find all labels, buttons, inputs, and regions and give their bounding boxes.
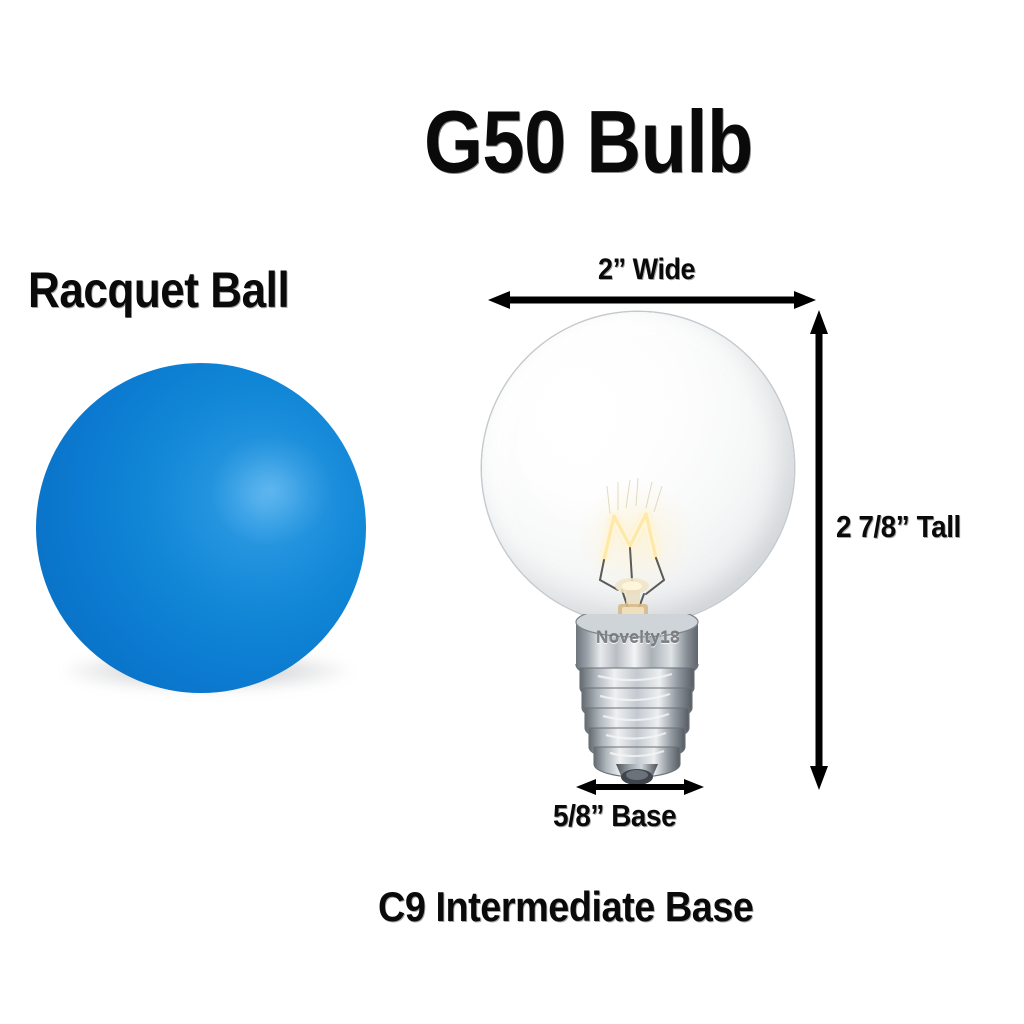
bulb-screw-base-icon — [554, 614, 720, 786]
double-arrow-horizontal-icon — [576, 776, 704, 798]
base-type-label: C9 Intermediate Base — [378, 886, 753, 928]
racquet-ball-illustration — [36, 363, 376, 713]
base-dimension-label: 5/8” Base — [553, 800, 676, 831]
double-arrow-horizontal-icon — [488, 288, 816, 312]
double-arrow-vertical-icon — [806, 310, 832, 790]
width-dimension-label: 2” Wide — [598, 255, 695, 285]
bulb-filament-icon — [566, 468, 706, 628]
racquet-ball-highlight — [211, 435, 331, 545]
height-dimension-label: 2 7/8” Tall — [836, 511, 961, 542]
g50-bulb-illustration: Novelty18 — [478, 308, 808, 788]
racquet-ball-sphere — [36, 363, 366, 693]
page-title: G50 Bulb — [424, 98, 753, 186]
product-spec-diagram: G50 Bulb Racquet Ball — [0, 0, 1024, 1024]
racquet-ball-label: Racquet Ball — [28, 265, 289, 315]
